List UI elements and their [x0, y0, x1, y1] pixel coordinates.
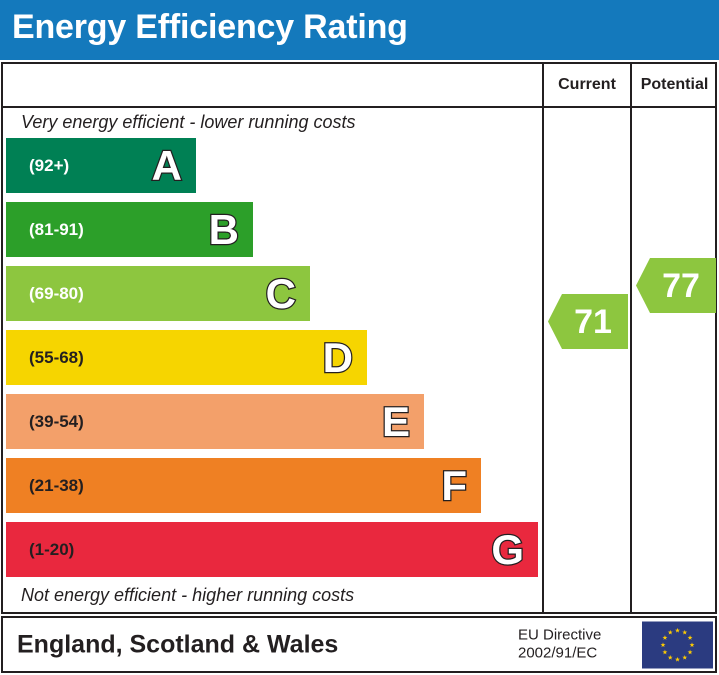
band-letter-c: C	[266, 273, 296, 315]
page-title: Energy Efficiency Rating	[12, 8, 408, 47]
band-bar-g: (1-20)G	[6, 522, 538, 577]
footer-directive-line2: 2002/91/EC	[518, 645, 601, 664]
column-divider-potential	[630, 64, 632, 612]
band-letter-a: A	[152, 145, 182, 187]
band-range-g: (1-20)	[29, 540, 74, 560]
band-bar-a: (92+)A	[6, 138, 196, 193]
band-letter-f: F	[441, 465, 467, 507]
band-bar-group: (92+)A(81-91)B(69-80)C(55-68)D(39-54)E(2…	[3, 64, 542, 612]
rating-value-potential: 77	[652, 269, 710, 303]
band-bar-f: (21-38)F	[6, 458, 481, 513]
band-range-f: (21-38)	[29, 476, 84, 496]
band-bar-d: (55-68)D	[6, 330, 367, 385]
band-bar-c: (69-80)C	[6, 266, 310, 321]
footer-region-label: England, Scotland & Wales	[17, 630, 338, 659]
eu-flag-icon	[642, 621, 713, 668]
rating-arrow-current: 71	[548, 294, 628, 349]
band-letter-e: E	[382, 401, 410, 443]
footer-directive: EU Directive 2002/91/EC	[518, 626, 601, 664]
band-range-b: (81-91)	[29, 220, 84, 240]
column-divider-current	[542, 64, 544, 612]
band-range-d: (55-68)	[29, 348, 84, 368]
rating-table: Current Potential Very energy efficient …	[1, 62, 717, 614]
band-bar-b: (81-91)B	[6, 202, 253, 257]
certificate-header: Energy Efficiency Rating	[0, 0, 719, 60]
rating-arrow-potential: 77	[636, 258, 716, 313]
band-range-e: (39-54)	[29, 412, 84, 432]
band-range-a: (92+)	[29, 156, 69, 176]
band-bar-e: (39-54)E	[6, 394, 424, 449]
column-header-potential: Potential	[632, 76, 717, 94]
column-header-current: Current	[544, 76, 630, 94]
energy-efficiency-rating-certificate: Energy Efficiency Rating Current Potenti…	[0, 0, 719, 675]
band-letter-d: D	[323, 337, 353, 379]
band-letter-b: B	[209, 209, 239, 251]
certificate-footer: England, Scotland & Wales EU Directive 2…	[1, 616, 717, 673]
band-range-c: (69-80)	[29, 284, 84, 304]
band-letter-g: G	[491, 529, 524, 571]
rating-value-current: 71	[564, 305, 622, 339]
footer-directive-line1: EU Directive	[518, 626, 601, 645]
